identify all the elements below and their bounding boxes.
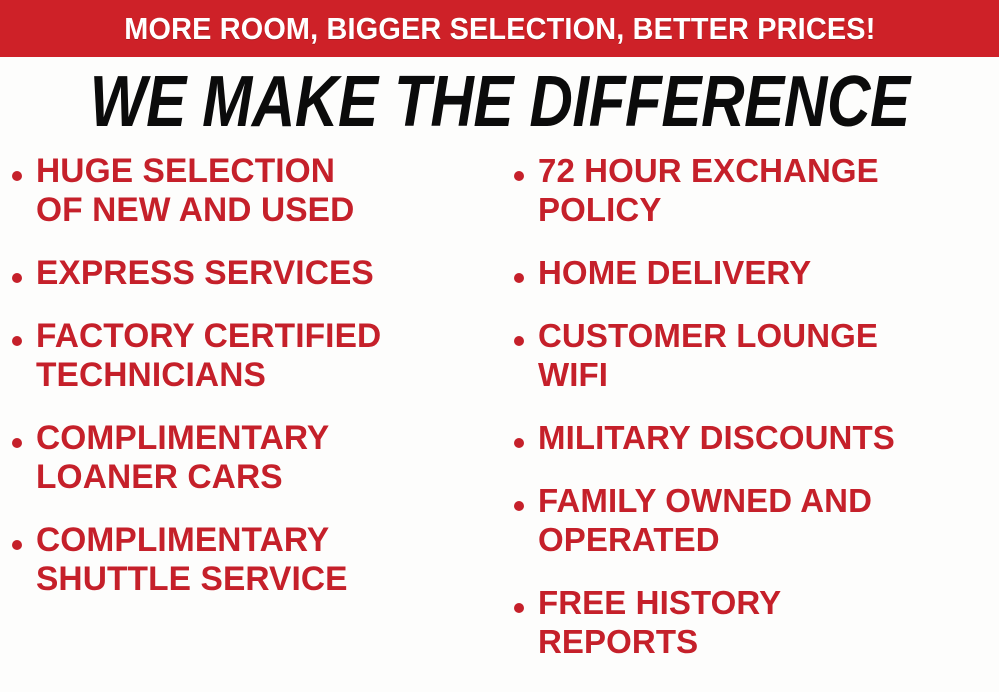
promo-banner: MORE ROOM, BIGGER SELECTION, BETTER PRIC… [0, 0, 999, 57]
page-title: WE MAKE THE DIFFERENCE [90, 65, 910, 138]
list-item: FREE HISTORY REPORTS [514, 584, 997, 662]
bullet-dot-icon [12, 438, 22, 448]
list-item: FAMILY OWNED AND OPERATED [514, 482, 997, 560]
list-item-label: HOME DELIVERY [538, 254, 811, 293]
list-item: 72 HOUR EXCHANGE POLICY [514, 152, 997, 230]
list-item: HUGE SELECTION OF NEW AND USED [12, 152, 501, 230]
benefits-column-right: 72 HOUR EXCHANGE POLICY HOME DELIVERY CU… [505, 152, 999, 686]
list-item-label: EXPRESS SERVICES [36, 254, 374, 293]
bullet-dot-icon [514, 501, 524, 511]
list-item: FACTORY CERTIFIED TECHNICIANS [12, 317, 501, 395]
list-item: COMPLIMENTARY SHUTTLE SERVICE [12, 521, 501, 599]
list-item-label: HUGE SELECTION OF NEW AND USED [36, 152, 354, 230]
bullet-dot-icon [514, 171, 524, 181]
bullet-dot-icon [12, 540, 22, 550]
list-item-label: FACTORY CERTIFIED TECHNICIANS [36, 317, 381, 395]
bullet-dot-icon [514, 438, 524, 448]
list-item-label: MILITARY DISCOUNTS [538, 419, 895, 458]
list-item-label: FREE HISTORY REPORTS [538, 584, 781, 662]
bullet-dot-icon [12, 273, 22, 283]
list-item: CUSTOMER LOUNGE WIFI [514, 317, 997, 395]
promo-banner-text: MORE ROOM, BIGGER SELECTION, BETTER PRIC… [124, 13, 875, 44]
bullet-dot-icon [12, 336, 22, 346]
benefits-list-right: 72 HOUR EXCHANGE POLICY HOME DELIVERY CU… [514, 152, 997, 662]
list-item: MILITARY DISCOUNTS [514, 419, 997, 458]
list-item: HOME DELIVERY [514, 254, 997, 293]
list-item: COMPLIMENTARY LOANER CARS [12, 419, 501, 497]
benefits-list-left: HUGE SELECTION OF NEW AND USED EXPRESS S… [12, 152, 501, 599]
list-item-label: FAMILY OWNED AND OPERATED [538, 482, 872, 560]
list-item-label: 72 HOUR EXCHANGE POLICY [538, 152, 879, 230]
bullet-dot-icon [12, 171, 22, 181]
list-item-label: CUSTOMER LOUNGE WIFI [538, 317, 878, 395]
list-item: EXPRESS SERVICES [12, 254, 501, 293]
bullet-dot-icon [514, 273, 524, 283]
benefits-columns: HUGE SELECTION OF NEW AND USED EXPRESS S… [0, 152, 999, 692]
list-item-label: COMPLIMENTARY SHUTTLE SERVICE [36, 521, 348, 599]
benefits-column-left: HUGE SELECTION OF NEW AND USED EXPRESS S… [0, 152, 505, 623]
list-item-label: COMPLIMENTARY LOANER CARS [36, 419, 329, 497]
advertisement-banner: MORE ROOM, BIGGER SELECTION, BETTER PRIC… [0, 0, 999, 692]
headline-container: WE MAKE THE DIFFERENCE [0, 62, 999, 140]
bullet-dot-icon [514, 603, 524, 613]
bullet-dot-icon [514, 336, 524, 346]
